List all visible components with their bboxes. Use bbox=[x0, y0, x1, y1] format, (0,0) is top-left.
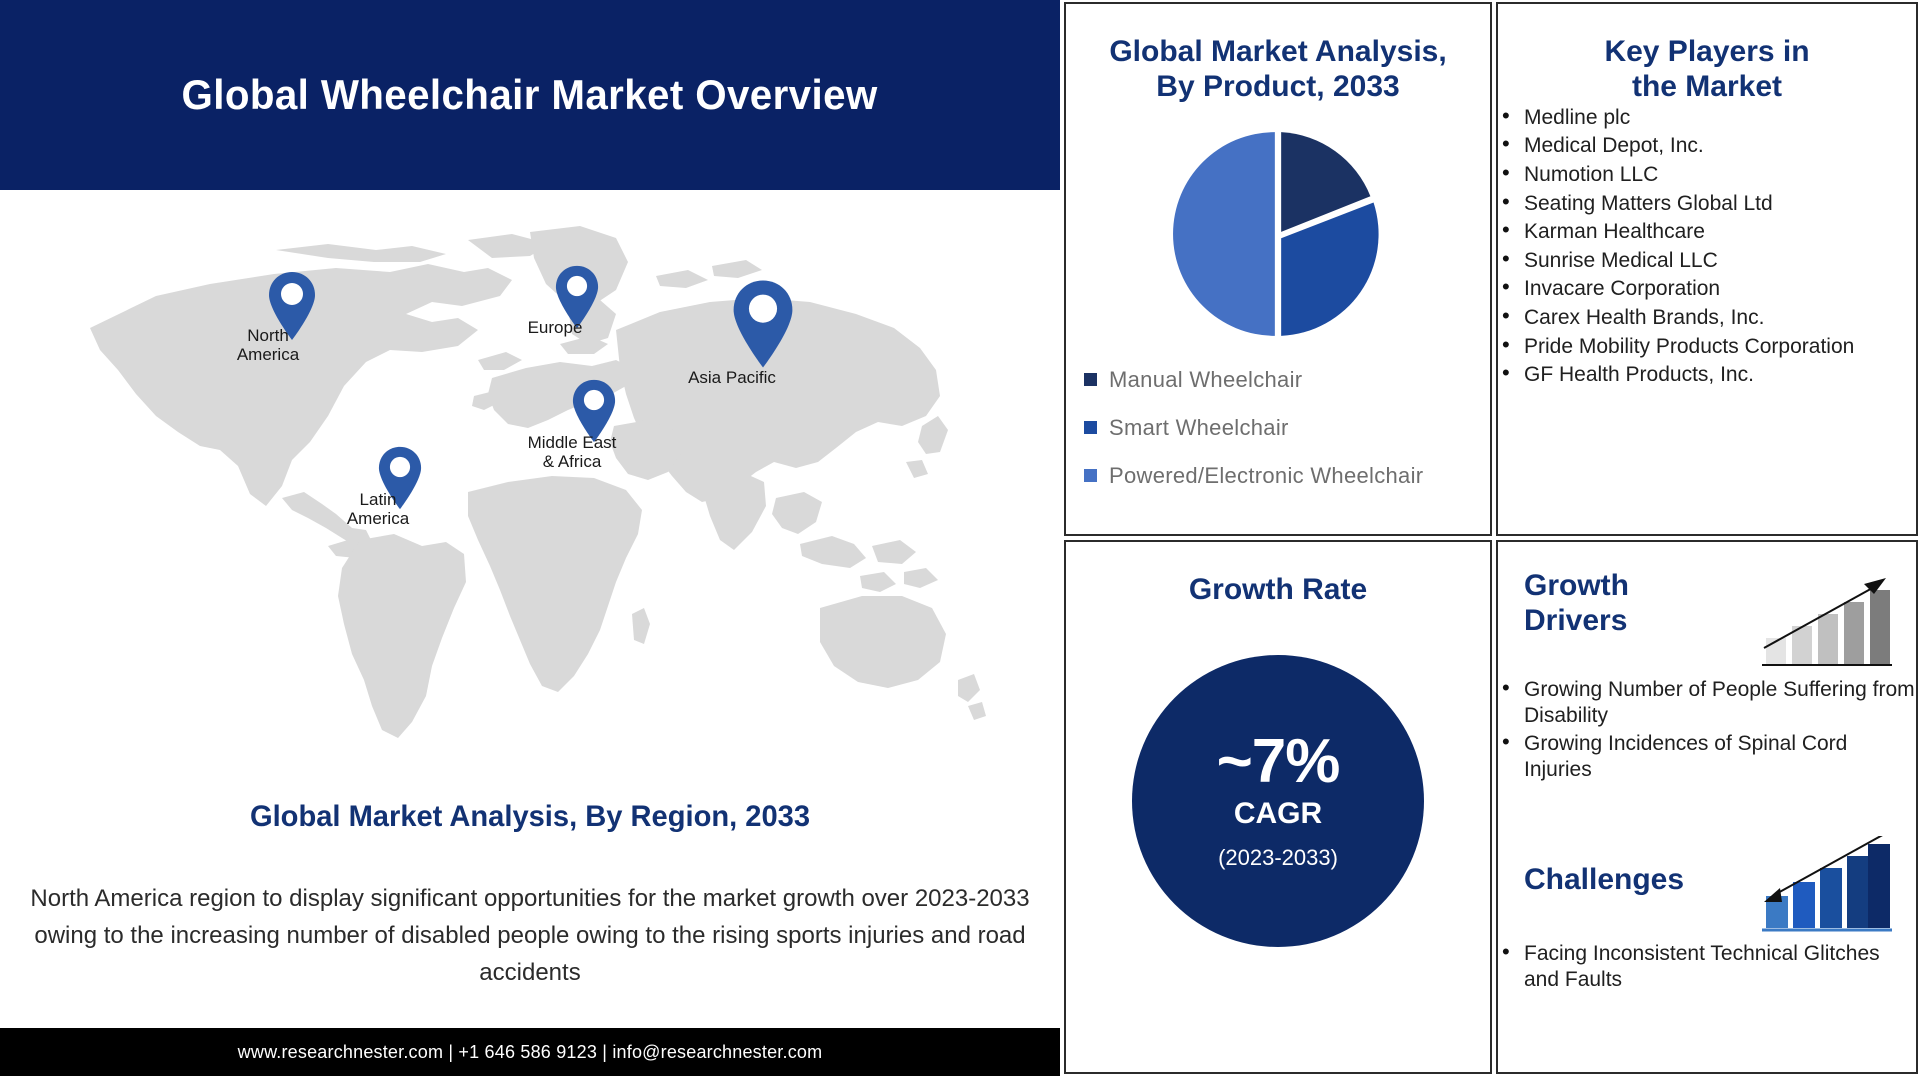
map-label-middle-east-africa: Middle East & Africa bbox=[528, 433, 617, 471]
growth-up-bar-chart-icon bbox=[1760, 572, 1894, 677]
map-label-north-america: North America bbox=[237, 326, 299, 364]
panel-growth-title: Growth Rate bbox=[1066, 572, 1490, 607]
legend-item-smart[interactable]: Smart Wheelchair bbox=[1084, 415, 1490, 441]
panel-product-title-line1: Global Market Analysis, bbox=[1066, 34, 1490, 69]
cagr-unit: CAGR bbox=[1234, 797, 1322, 831]
panel-market-by-product: Global Market Analysis, By Product, 2033… bbox=[1064, 2, 1492, 536]
region-analysis-heading: Global Market Analysis, By Region, 2033 bbox=[16, 800, 1044, 834]
legend-label-powered: Powered/Electronic Wheelchair bbox=[1109, 463, 1423, 489]
key-players-list: Medline plc Medical Depot, Inc. Numotion… bbox=[1498, 105, 1916, 388]
panel-key-players: Key Players in the Market Medline plc Me… bbox=[1496, 2, 1918, 536]
list-item: Carex Health Brands, Inc. bbox=[1498, 305, 1916, 331]
growth-drivers-list: Growing Number of People Suffering from … bbox=[1498, 677, 1916, 782]
cagr-value: ~7% bbox=[1217, 731, 1340, 793]
list-item: Seating Matters Global Ltd bbox=[1498, 191, 1916, 217]
pie-legend: Manual Wheelchair Smart Wheelchair Power… bbox=[1084, 367, 1490, 489]
map-label-latin-america: Latin America bbox=[347, 490, 409, 528]
list-item: Medline plc bbox=[1498, 105, 1916, 131]
cagr-badge: ~7% CAGR (2023-2033) bbox=[1132, 655, 1424, 947]
map-label-asia-pacific: Asia Pacific bbox=[688, 368, 776, 387]
challenges-header: Challenges bbox=[1498, 832, 1916, 941]
legend-label-manual: Manual Wheelchair bbox=[1109, 367, 1302, 393]
footer-contact-text: www.researchnester.com | +1 646 586 9123… bbox=[238, 1042, 823, 1063]
list-item: Sunrise Medical LLC bbox=[1498, 248, 1916, 274]
panel-players-title: Key Players in the Market bbox=[1498, 34, 1916, 105]
legend-item-powered[interactable]: Powered/Electronic Wheelchair bbox=[1084, 463, 1490, 489]
growth-drivers-title-line1: Growth bbox=[1524, 568, 1629, 603]
legend-label-smart: Smart Wheelchair bbox=[1109, 415, 1289, 441]
panel-product-title: Global Market Analysis, By Product, 2033 bbox=[1066, 34, 1490, 105]
world-map-section: North America Latin America Europe bbox=[0, 190, 1060, 800]
list-item: Invacare Corporation bbox=[1498, 276, 1916, 302]
panel-growth-rate: Growth Rate ~7% CAGR (2023-2033) bbox=[1064, 540, 1492, 1074]
growth-drivers-title: Growth Drivers bbox=[1524, 568, 1629, 639]
list-item: Growing Number of People Suffering from … bbox=[1498, 677, 1916, 728]
title-banner: Global Wheelchair Market Overview bbox=[0, 0, 1060, 190]
challenges-title: Challenges bbox=[1524, 832, 1684, 897]
map-label-europe: Europe bbox=[528, 318, 583, 337]
legend-swatch-icon bbox=[1084, 373, 1097, 386]
list-item: Growing Incidences of Spinal Cord Injuri… bbox=[1498, 731, 1916, 782]
challenges-list: Facing Inconsistent Technical Glitches a… bbox=[1498, 941, 1916, 992]
panel-players-title-line2: the Market bbox=[1498, 69, 1916, 104]
legend-swatch-icon bbox=[1084, 421, 1097, 434]
region-analysis-body: North America region to display signific… bbox=[20, 880, 1040, 992]
panel-players-title-line1: Key Players in bbox=[1498, 34, 1916, 69]
panel-product-title-line2: By Product, 2033 bbox=[1066, 69, 1490, 104]
list-item: Numotion LLC bbox=[1498, 162, 1916, 188]
growth-drivers-title-line2: Drivers bbox=[1524, 603, 1629, 638]
page-title: Global Wheelchair Market Overview bbox=[182, 71, 878, 119]
footer-bar: www.researchnester.com | +1 646 586 9123… bbox=[0, 1028, 1060, 1076]
legend-item-manual[interactable]: Manual Wheelchair bbox=[1084, 367, 1490, 393]
world-map-graphic bbox=[60, 210, 1000, 770]
legend-swatch-icon bbox=[1084, 469, 1097, 482]
list-item: Karman Healthcare bbox=[1498, 219, 1916, 245]
panel-drivers-challenges: Growth Drivers Growing Number of People … bbox=[1496, 540, 1918, 1074]
challenges-down-bar-chart-icon bbox=[1760, 836, 1894, 941]
pie-chart-by-product bbox=[1173, 129, 1383, 339]
infographic-page: Global Wheelchair Market Overview bbox=[0, 0, 1920, 1076]
list-item: GF Health Products, Inc. bbox=[1498, 362, 1916, 388]
growth-drivers-header: Growth Drivers bbox=[1498, 568, 1916, 677]
list-item: Facing Inconsistent Technical Glitches a… bbox=[1498, 941, 1916, 992]
cagr-period: (2023-2033) bbox=[1218, 845, 1338, 871]
list-item: Medical Depot, Inc. bbox=[1498, 133, 1916, 159]
list-item: Pride Mobility Products Corporation bbox=[1498, 334, 1916, 360]
pie-chart-container bbox=[1066, 129, 1490, 339]
left-column: Global Wheelchair Market Overview bbox=[0, 0, 1060, 1076]
growth-circle-container: ~7% CAGR (2023-2033) bbox=[1066, 655, 1490, 947]
